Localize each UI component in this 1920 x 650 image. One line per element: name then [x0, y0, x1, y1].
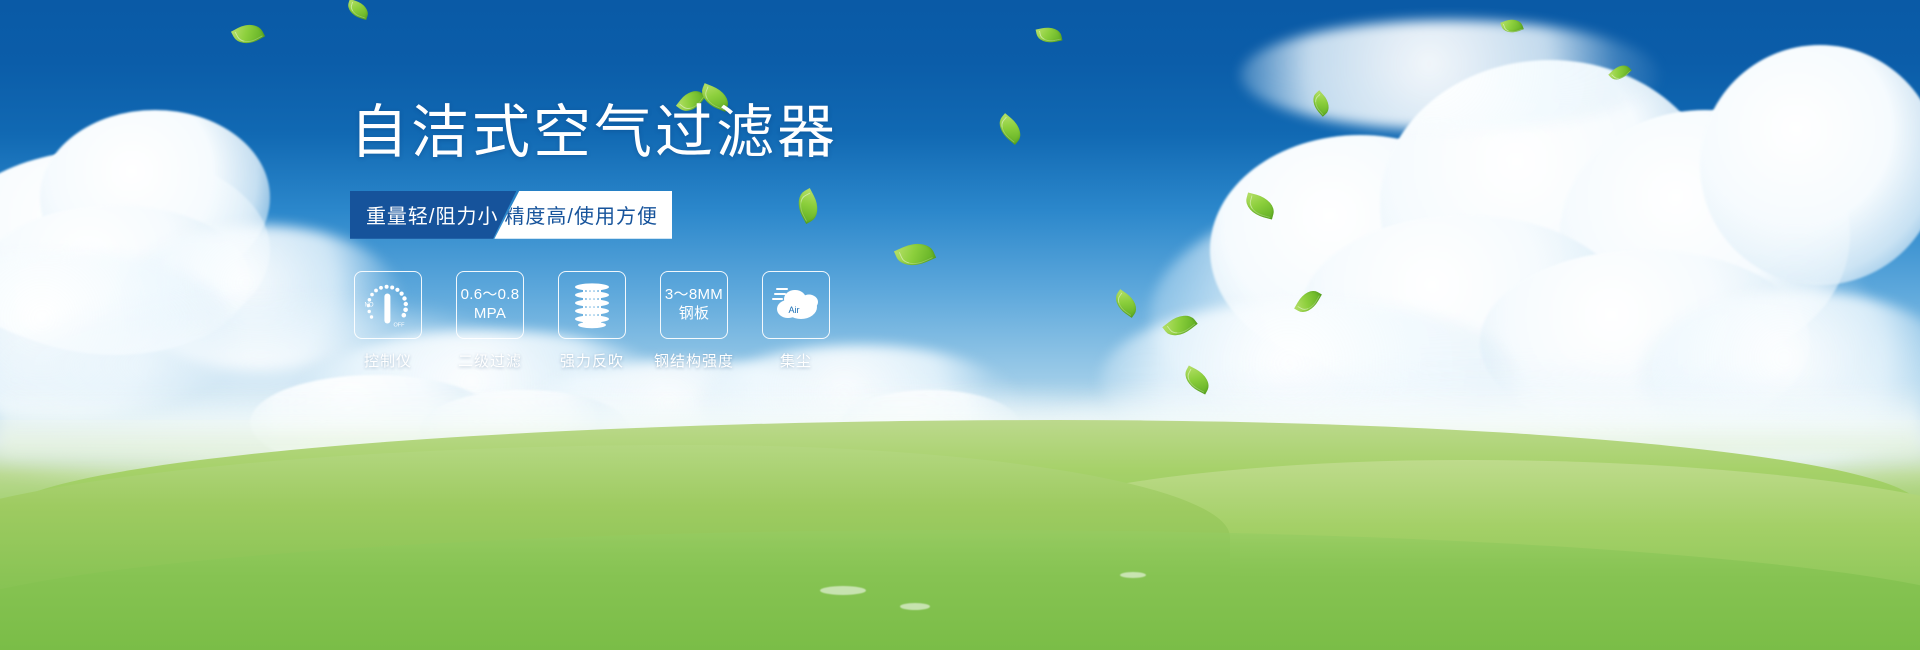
pressure-value-line2: MPA — [474, 305, 506, 323]
feature-two-stage-filter-box: 0.6～0.8 MPA — [456, 271, 524, 339]
gauge-label-no: NO — [365, 302, 374, 308]
gauge-dial-icon: NO OFF — [362, 280, 414, 330]
feature-dust-collection: Air 集尘 — [758, 271, 834, 371]
banner-content: 自洁式空气过滤器 重量轻/阻力小 精度高/使用方便 — [350, 100, 1050, 371]
feature-two-stage-filter-label: 二级过滤 — [458, 350, 522, 371]
feature-controller-label: 控制仪 — [364, 350, 412, 371]
grass-speck-2 — [900, 603, 930, 610]
steel-plate-line2: 钢板 — [679, 305, 710, 323]
tag-precision: 精度高/使用方便 — [494, 191, 672, 239]
feature-steel-strength-box: 3～8MM 钢板 — [660, 271, 728, 339]
grass-speck-3 — [1120, 572, 1146, 578]
feature-dust-collection-label: 集尘 — [780, 350, 812, 371]
feature-backblow: 强力反吹 — [554, 271, 630, 371]
feature-dust-collection-box: Air — [762, 271, 830, 339]
feature-controller-box: NO OFF — [354, 271, 422, 339]
tag-light-weight: 重量轻/阻力小 — [350, 191, 516, 239]
cloud-air-label: Air — [789, 305, 800, 315]
pressure-value-line1: 0.6～0.8 — [461, 286, 520, 304]
gauge-label-off: OFF — [394, 322, 406, 328]
hero-banner: 自洁式空气过滤器 重量轻/阻力小 精度高/使用方便 — [0, 0, 1920, 650]
cloud-air-icon: Air — [771, 283, 821, 327]
feature-list: NO OFF 控制仪 0.6～0.8 MPA 二级过滤 — [350, 271, 1050, 371]
pleated-filter-cartridge-icon — [569, 281, 615, 329]
feature-steel-strength-label: 钢结构强度 — [654, 350, 734, 371]
tag-group: 重量轻/阻力小 精度高/使用方便 — [350, 191, 672, 239]
steel-plate-line1: 3～8MM — [665, 286, 723, 304]
page-title: 自洁式空气过滤器 — [350, 100, 1050, 167]
feature-controller: NO OFF 控制仪 — [350, 271, 426, 371]
feature-two-stage-filter: 0.6～0.8 MPA 二级过滤 — [452, 271, 528, 371]
grass-speck-1 — [820, 586, 866, 595]
feature-backblow-label: 强力反吹 — [560, 350, 624, 371]
feature-steel-strength: 3～8MM 钢板 钢结构强度 — [656, 271, 732, 371]
feature-backblow-box — [558, 271, 626, 339]
